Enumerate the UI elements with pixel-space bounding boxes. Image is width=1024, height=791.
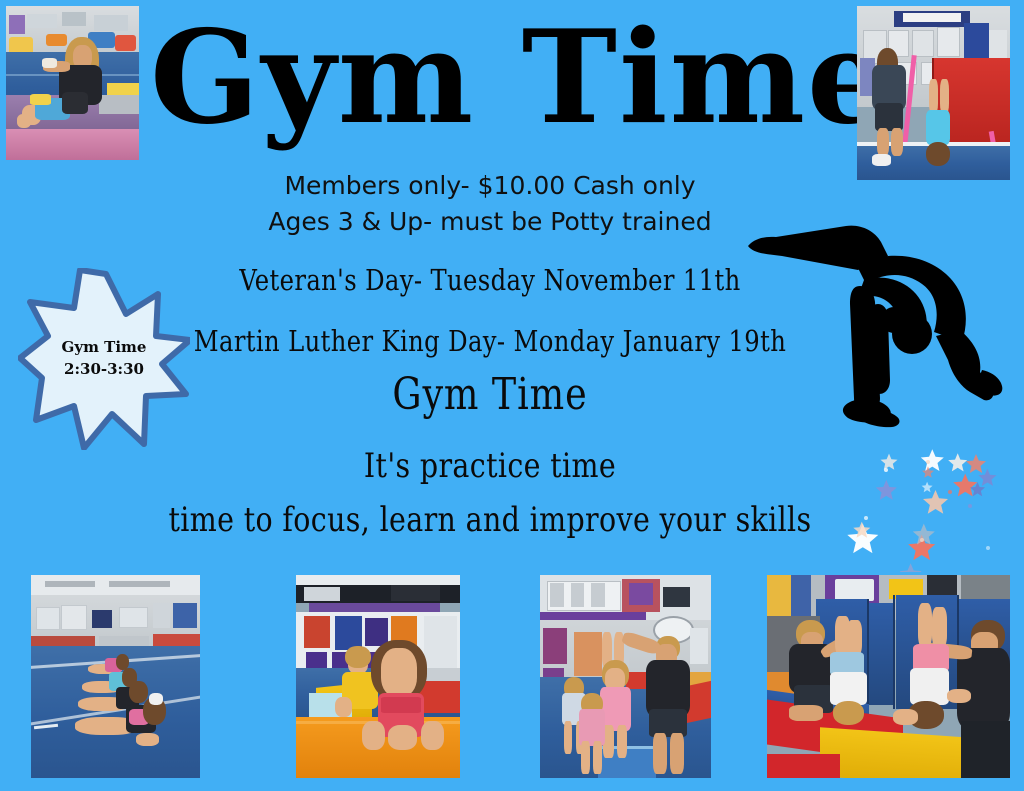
photo-alt-texts: Coach in black shirt kneeling beside a t… (0, 0, 1, 1)
gymnast-handstand-silhouette (738, 212, 1018, 460)
gym-time-flyer: Gym Time (0, 0, 1024, 791)
photo-two-handstands (767, 575, 1010, 778)
photo-handstand-red-wall (857, 6, 1010, 180)
line-practice-time: It's practice time (146, 444, 834, 488)
line-veterans-day: Veteran's Day- Tuesday November 11th (146, 261, 834, 300)
star-cluster-decoration (838, 440, 1024, 572)
line-focus-learn-improve: time to focus, learn and improve your sk… (146, 498, 834, 542)
starburst-shape (20, 270, 190, 448)
section-title-gym-time: Gym Time (150, 369, 831, 422)
photo-stretching-line (31, 575, 200, 778)
page-title: Gym Time (150, 14, 850, 142)
line-mlk-day: Martin Luther King Day- Monday January 1… (146, 322, 834, 361)
photo-girls-on-orange-mat (296, 575, 460, 778)
photo-coach-arms-up (540, 575, 711, 778)
line-members-price: Members only- $10.00 Cash only (120, 168, 860, 204)
photo-coach-with-toddler (6, 6, 139, 160)
starburst-badge: Gym Time 2:30-3:30 (18, 268, 190, 450)
